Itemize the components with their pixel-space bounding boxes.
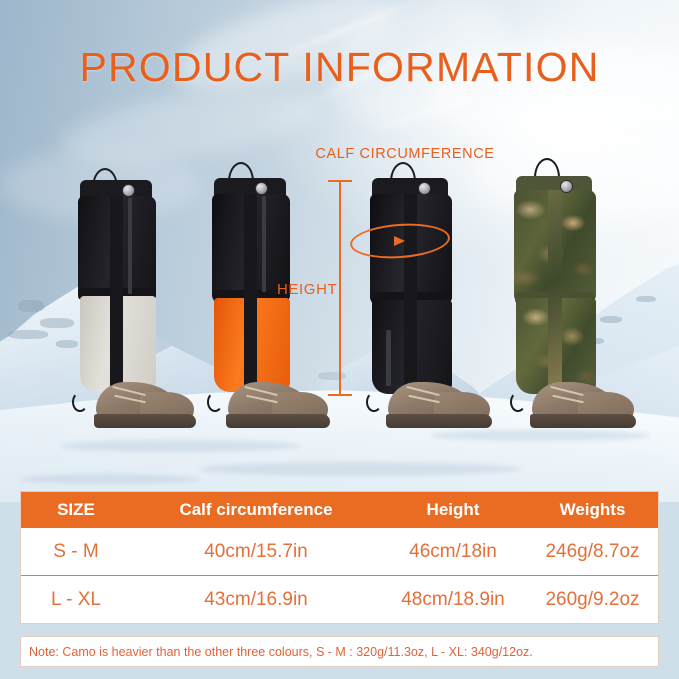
cell-height: 48cm/18.9in	[380, 589, 526, 611]
cell-calf: 40cm/15.7in	[132, 541, 380, 563]
height-label: HEIGHT	[277, 281, 337, 298]
table-row: S - M 40cm/15.7in 46cm/18in 246g/8.7oz	[20, 528, 659, 575]
snow-ridge	[430, 430, 650, 441]
zipper	[128, 198, 132, 294]
rock-outcrop	[318, 372, 346, 380]
cell-height: 46cm/18in	[380, 541, 526, 563]
height-measure-line	[339, 180, 341, 396]
table-header-row: SIZE Calf circumference Height Weights	[20, 491, 659, 528]
cell-weight: 260g/9.2oz	[526, 589, 659, 611]
zipper	[262, 196, 266, 292]
rock-outcrop	[600, 316, 622, 323]
rock-outcrop	[8, 330, 48, 339]
cell-size: L - XL	[20, 589, 132, 611]
boot-sole	[386, 414, 492, 428]
front-strap	[548, 190, 562, 394]
rock-outcrop	[18, 300, 44, 312]
calf-circumference-label: CALF CIRCUMFERENCE	[310, 146, 500, 162]
height-measure-cap-bottom	[328, 394, 352, 396]
rock-outcrop	[40, 318, 74, 328]
cell-weight: 246g/8.7oz	[526, 541, 659, 563]
note-box: Note: Camo is heavier than the other thr…	[20, 636, 659, 667]
eyelet-grommet	[560, 180, 573, 193]
calf-circumference-arrow-icon	[394, 236, 405, 246]
column-header-size: SIZE	[20, 500, 132, 520]
boot-sole	[94, 414, 196, 428]
page-title: PRODUCT INFORMATION	[0, 44, 679, 91]
boot-lace-hook	[510, 392, 526, 412]
cell-calf: 43cm/16.9in	[132, 589, 380, 611]
cell-size: S - M	[20, 541, 132, 563]
snow-ridge	[20, 474, 200, 484]
product-information-infographic: PRODUCT INFORMATION	[0, 0, 679, 679]
boot-sole	[226, 414, 330, 428]
column-header-height: Height	[380, 500, 526, 520]
zipper	[386, 330, 391, 386]
rock-outcrop	[636, 296, 656, 302]
front-strap	[110, 196, 123, 394]
eyelet-grommet	[418, 182, 431, 195]
eyelet-grommet	[122, 184, 135, 197]
eyelet-grommet	[255, 182, 268, 195]
boot-sole	[530, 414, 636, 428]
column-header-calf: Calf circumference	[132, 500, 380, 520]
specification-table: SIZE Calf circumference Height Weights S…	[20, 491, 659, 623]
snow-ridge	[200, 462, 520, 476]
boot-lace-hook	[72, 392, 88, 412]
boot-lace-hook	[207, 392, 223, 412]
snow-ridge	[60, 440, 300, 452]
rock-outcrop	[56, 340, 78, 348]
boot-lace-hook	[366, 392, 382, 412]
note-text: Note: Camo is heavier than the other thr…	[21, 645, 533, 659]
table-row: L - XL 43cm/16.9in 48cm/18.9in 260g/9.2o…	[20, 575, 659, 623]
front-strap	[244, 194, 257, 392]
column-header-weights: Weights	[526, 500, 659, 520]
height-measure-cap-top	[328, 180, 352, 182]
